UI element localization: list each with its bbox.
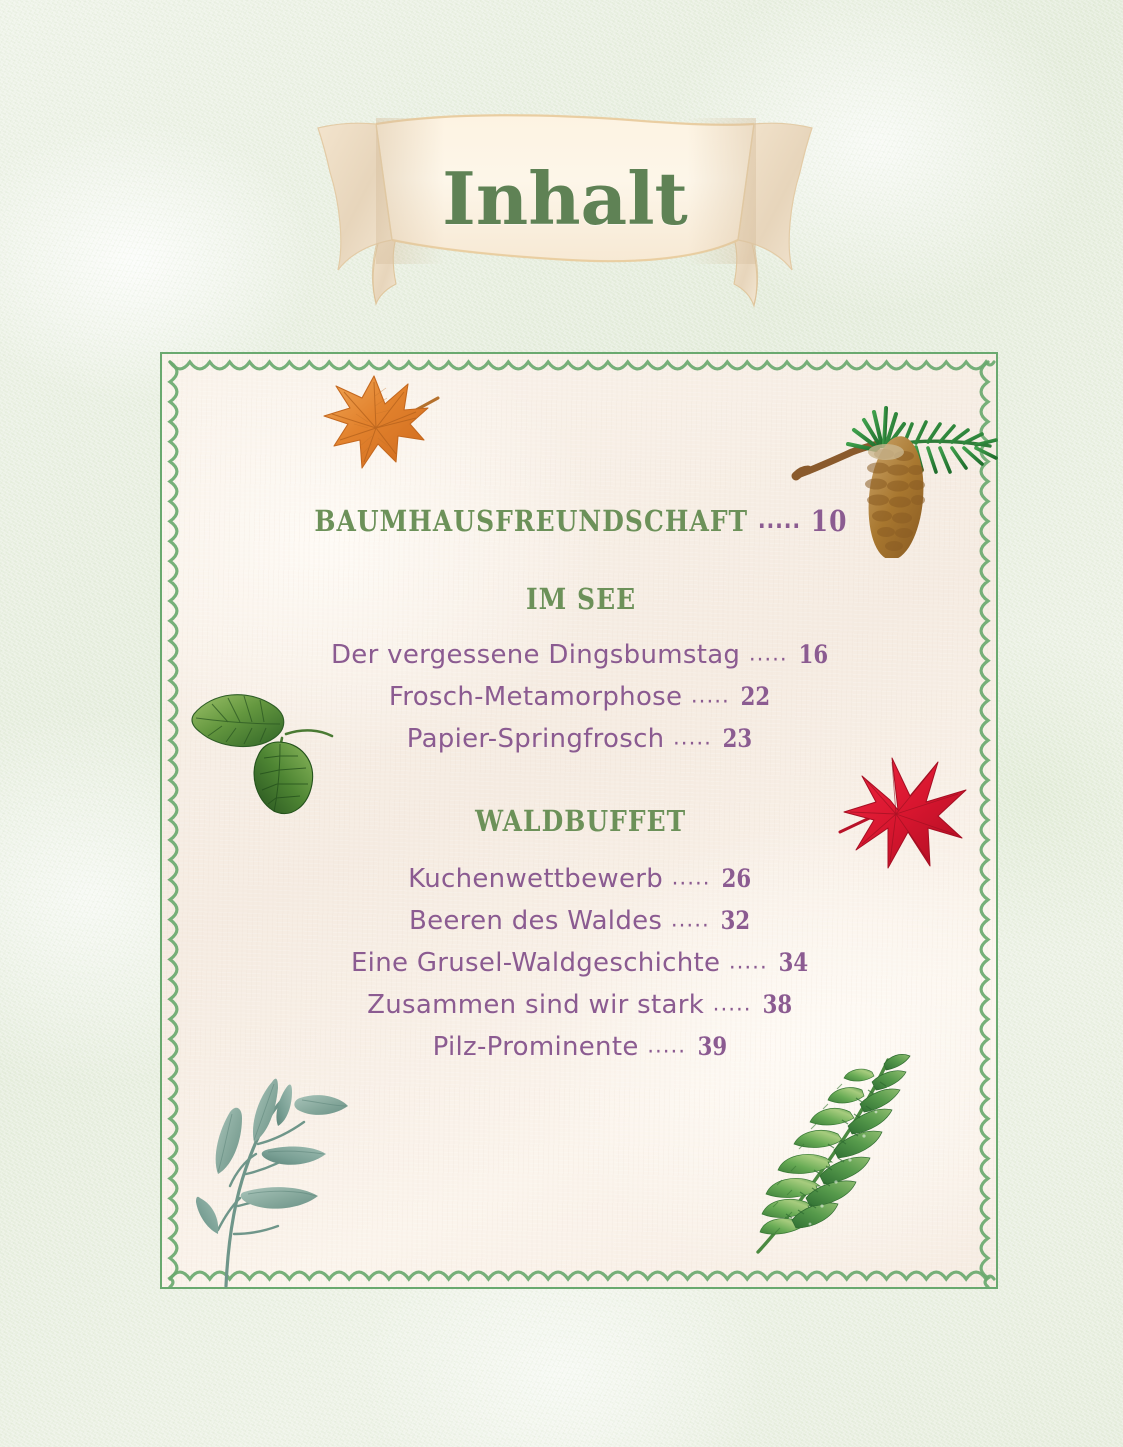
toc-entry-label: Papier-Springfrosch xyxy=(407,724,665,754)
toc-section-im-see: IM SEE Der vergessene Dingsbumstag .....… xyxy=(162,582,998,760)
toc-entry-label: Eine Grusel-Waldgeschichte xyxy=(351,948,720,978)
toc-section-heading-im-see: IM SEE xyxy=(162,582,998,616)
spacer xyxy=(162,616,998,634)
toc-entry-page: 23 xyxy=(723,727,753,752)
toc-entry-label: Der vergessene Dingsbumstag xyxy=(331,640,740,670)
leader-dots: ..... xyxy=(672,865,711,890)
toc-section-baumhausfreundschaft: BAUMHAUSFREUNDSCHAFT ..... 10 xyxy=(162,504,998,538)
leader-dots: ..... xyxy=(713,991,752,1016)
title-banner: Inhalt xyxy=(300,108,830,323)
spacer xyxy=(162,538,998,582)
toc-entry-page: 16 xyxy=(799,643,829,668)
toc-entry[interactable]: Papier-Springfrosch ..... 23 xyxy=(162,718,998,760)
toc-entry-page: 38 xyxy=(763,993,793,1018)
leader-dots: ..... xyxy=(673,725,712,750)
toc-entry-label: Frosch-Metamorphose xyxy=(389,682,682,712)
toc-entry[interactable]: Eine Grusel-Waldgeschichte ..... 34 xyxy=(162,942,998,984)
table-of-contents: BAUMHAUSFREUNDSCHAFT ..... 10 IM SEE Der… xyxy=(162,354,998,1068)
page-title: Inhalt xyxy=(300,156,830,241)
toc-entry[interactable]: Kuchenwettbewerb ..... 26 xyxy=(162,858,998,900)
toc-section-page: 10 xyxy=(811,504,848,538)
spacer xyxy=(162,760,998,804)
toc-entry-page: 32 xyxy=(721,909,751,934)
leader-dots: ..... xyxy=(671,907,710,932)
toc-entry-label: Pilz-Prominente xyxy=(433,1032,639,1062)
toc-entry-page: 22 xyxy=(741,685,771,710)
leader-dots: ..... xyxy=(758,506,801,534)
toc-section-waldbuffet: WALDBUFFET Kuchenwettbewerb ..... 26 Bee… xyxy=(162,804,998,1068)
toc-entry-page: 26 xyxy=(722,867,752,892)
toc-entry[interactable]: Zusammen sind wir stark ..... 38 xyxy=(162,984,998,1026)
toc-entry[interactable]: Frosch-Metamorphose ..... 22 xyxy=(162,676,998,718)
toc-section-title: BAUMHAUSFREUNDSCHAFT xyxy=(314,504,748,538)
toc-entry-label: Kuchenwettbewerb xyxy=(408,864,663,894)
toc-section-heading-baumhausfreundschaft[interactable]: BAUMHAUSFREUNDSCHAFT ..... 10 xyxy=(162,504,998,538)
toc-entry-page: 39 xyxy=(697,1035,727,1060)
toc-entry-label: Beeren des Waldes xyxy=(409,906,662,936)
toc-entry[interactable]: Beeren des Waldes ..... 32 xyxy=(162,900,998,942)
leader-dots: ..... xyxy=(749,641,788,666)
content-panel: BAUMHAUSFREUNDSCHAFT ..... 10 IM SEE Der… xyxy=(160,352,998,1289)
spacer xyxy=(162,838,998,858)
toc-section-title: WALDBUFFET xyxy=(475,804,686,838)
toc-entry-label: Zusammen sind wir stark xyxy=(367,990,704,1020)
leader-dots: ..... xyxy=(647,1033,686,1058)
leader-dots: ..... xyxy=(729,949,768,974)
toc-entry-page: 34 xyxy=(779,951,809,976)
leader-dots: ..... xyxy=(691,683,730,708)
toc-entry[interactable]: Pilz-Prominente ..... 39 xyxy=(162,1026,998,1068)
toc-entry[interactable]: Der vergessene Dingsbumstag ..... 16 xyxy=(162,634,998,676)
toc-section-title: IM SEE xyxy=(526,582,636,616)
toc-section-heading-waldbuffet: WALDBUFFET xyxy=(162,804,998,838)
